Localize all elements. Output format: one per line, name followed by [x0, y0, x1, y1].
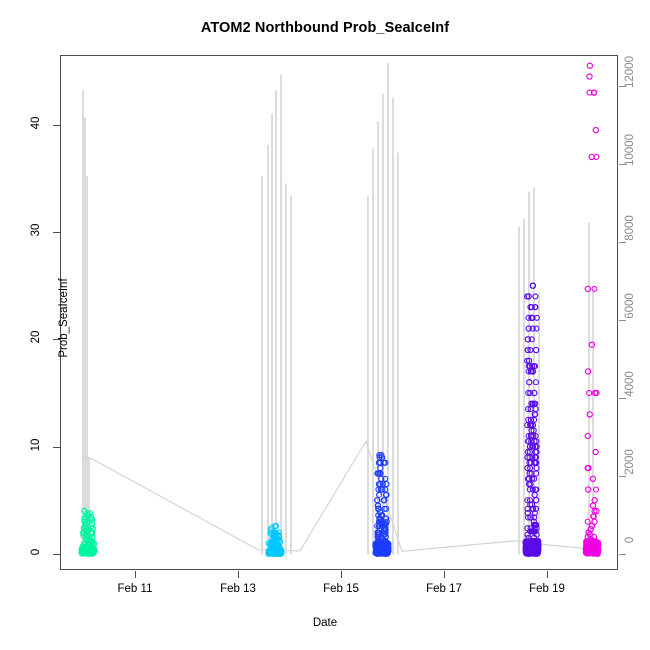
x-tick-label: Feb 15: [307, 583, 375, 595]
data-point: [587, 63, 592, 68]
plot-canvas: [60, 55, 618, 570]
y-tick-label: 10: [30, 433, 42, 457]
x-axis-label: Date: [0, 617, 650, 629]
y-right-tick-label: 2000: [624, 440, 636, 484]
x-tick-label: Feb 17: [410, 583, 478, 595]
y-axis-label: Prob_SeaIceInf: [58, 238, 70, 398]
y-right-tick-label: 12000: [624, 50, 636, 94]
scatter-points: [79, 63, 601, 556]
y-right-tick-label: 8000: [624, 206, 636, 250]
y-tick-label: 30: [30, 218, 42, 242]
x-tick-mark: [341, 571, 342, 578]
data-point: [587, 74, 592, 79]
y-right-tick-label: 0: [624, 518, 636, 562]
x-tick-label: Feb 11: [101, 583, 169, 595]
y-tick-label: 0: [30, 540, 42, 564]
page-title: ATOM2 Northbound Prob_SeaIceInf: [0, 20, 650, 36]
data-point: [592, 286, 597, 291]
chart-figure: ATOM2 Northbound Prob_SeaIceInf 01020304…: [0, 0, 650, 650]
x-tick-label: Feb 13: [204, 583, 272, 595]
x-tick-mark: [444, 571, 445, 578]
y-tick-label: 20: [30, 325, 42, 349]
y-tick-mark: [53, 232, 60, 233]
x-tick-mark: [135, 571, 136, 578]
y-tick-mark: [53, 554, 60, 555]
data-point: [586, 369, 591, 374]
y-right-tick-label: 6000: [624, 284, 636, 328]
y-tick-label: 40: [30, 111, 42, 135]
x-tick-mark: [547, 571, 548, 578]
y-right-tick-label: 4000: [624, 362, 636, 406]
connector-line: [83, 441, 600, 551]
y-right-tick-label: 10000: [624, 128, 636, 172]
y-tick-mark: [53, 125, 60, 126]
data-point: [593, 128, 598, 133]
x-tick-mark: [238, 571, 239, 578]
data-point: [594, 487, 599, 492]
y-tick-mark: [53, 447, 60, 448]
gray-spike-lines: [83, 63, 600, 555]
x-tick-label: Feb 19: [513, 583, 581, 595]
plot-area: [60, 55, 618, 570]
